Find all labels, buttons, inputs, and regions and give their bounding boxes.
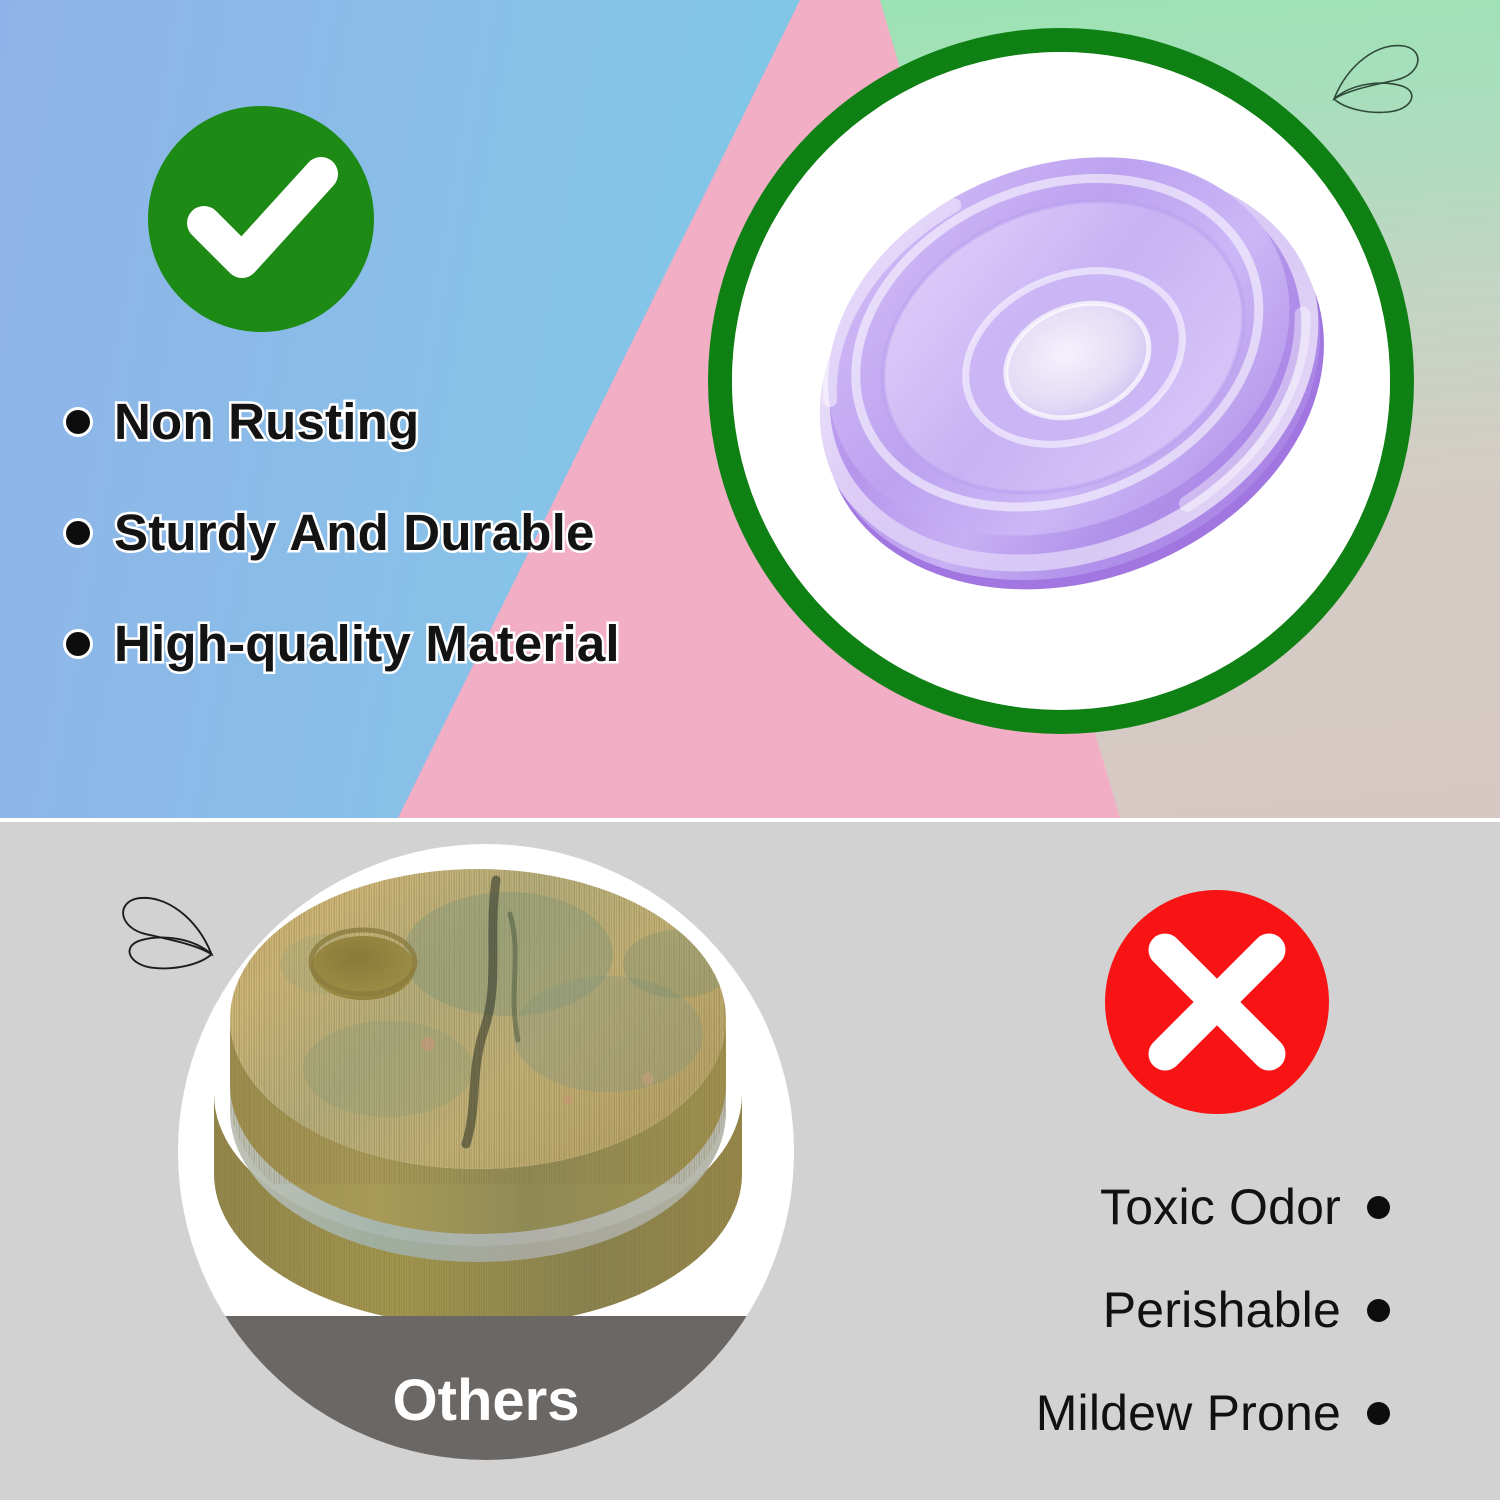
leaf-flourish-icon bbox=[104, 884, 220, 976]
list-item: Sturdy And Durable bbox=[66, 503, 746, 562]
list-item: Toxic Odor bbox=[930, 1178, 1390, 1236]
list-item: Perishable bbox=[930, 1281, 1390, 1339]
ours-photo-area bbox=[732, 52, 1390, 710]
leaf-flourish-icon bbox=[1326, 36, 1436, 116]
x-circle-icon bbox=[1103, 888, 1331, 1116]
others-label: Others bbox=[178, 1367, 794, 1434]
list-item: Mildew Prone bbox=[930, 1384, 1390, 1442]
pro-label: Sturdy And Durable bbox=[114, 503, 595, 562]
con-label: Toxic Odor bbox=[1100, 1178, 1341, 1236]
others-product-badge: Others bbox=[178, 844, 794, 1460]
pro-label: Non Rusting bbox=[114, 392, 419, 451]
con-label: Perishable bbox=[1103, 1281, 1341, 1339]
purple-silicone-lid-image bbox=[732, 52, 1390, 632]
pro-label: High-quality Material bbox=[114, 614, 620, 673]
bullet-dot-icon bbox=[66, 521, 90, 545]
cons-list: Toxic Odor Perishable Mildew Prone bbox=[930, 1178, 1390, 1487]
bullet-dot-icon bbox=[66, 410, 90, 434]
bullet-dot-icon bbox=[66, 632, 90, 656]
bullet-dot-icon bbox=[1367, 1402, 1390, 1425]
comparison-infographic: Non Rusting Sturdy And Durable High-qual… bbox=[0, 0, 1500, 1500]
bullet-dot-icon bbox=[1367, 1196, 1390, 1219]
con-label: Mildew Prone bbox=[1036, 1384, 1341, 1442]
bullet-dot-icon bbox=[1367, 1299, 1390, 1322]
pros-list: Non Rusting Sturdy And Durable High-qual… bbox=[66, 392, 746, 725]
ours-label: Ours bbox=[708, 635, 1414, 706]
check-circle-icon bbox=[146, 104, 376, 334]
ours-product-badge: Ours bbox=[708, 28, 1414, 734]
list-item: Non Rusting bbox=[66, 392, 746, 451]
list-item: High-quality Material bbox=[66, 614, 746, 673]
moldy-bamboo-lid-image bbox=[178, 844, 794, 1344]
